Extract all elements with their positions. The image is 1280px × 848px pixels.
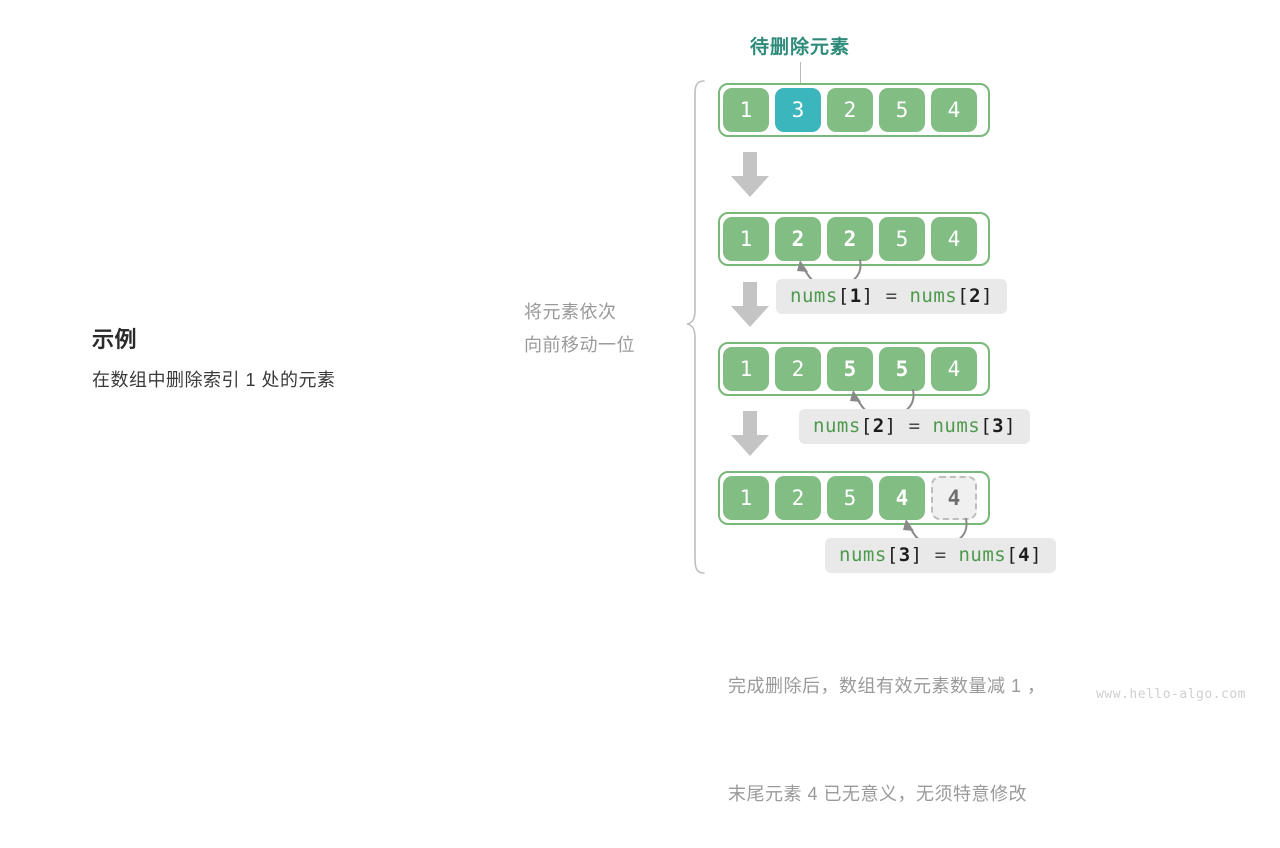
code-bracket-close: ] — [1030, 544, 1042, 566]
down-block-arrow-icon — [730, 282, 770, 328]
array-cell[interactable]: 1 — [723, 217, 769, 261]
array-cell[interactable]: 5 — [879, 347, 925, 391]
shift-note-line-2: 向前移动一位 — [524, 329, 704, 362]
code-bracket-open: [ — [887, 544, 899, 566]
code-bracket-open: [ — [1006, 544, 1018, 566]
code-lhs-name: nums — [839, 544, 887, 566]
code-lhs-index: 3 — [899, 544, 911, 566]
array-cell[interactable]: 2 — [775, 347, 821, 391]
curly-brace-icon — [684, 78, 710, 578]
code-rhs-index: 2 — [969, 285, 981, 307]
array-cell-highlighted[interactable]: 3 — [775, 88, 821, 132]
code-bracket-close: ] — [862, 285, 874, 307]
down-block-arrow-icon — [730, 152, 770, 198]
array-cell[interactable]: 4 — [931, 88, 977, 132]
code-lhs-name: nums — [790, 285, 838, 307]
code-label: nums[1] = nums[2] — [776, 279, 1007, 314]
array-cell[interactable]: 4 — [931, 347, 977, 391]
footer-note-line-2: 末尾元素 4 已无意义，无须特意修改 — [728, 776, 1208, 812]
array-cells: 1 2 2 5 4 — [723, 217, 977, 261]
example-title: 示例 — [92, 322, 492, 354]
array-cell[interactable]: 5 — [827, 476, 873, 520]
array-cell[interactable]: 1 — [723, 88, 769, 132]
delete-target-label: 待删除元素 — [700, 32, 900, 59]
down-block-arrow-icon — [730, 411, 770, 457]
code-rhs-index: 3 — [992, 415, 1004, 437]
code-operator: = — [923, 544, 959, 566]
code-lhs-index: 1 — [850, 285, 862, 307]
array-cell[interactable]: 4 — [931, 217, 977, 261]
array-cell[interactable]: 4 — [879, 476, 925, 520]
code-label: nums[2] = nums[3] — [799, 409, 1030, 444]
array-cell[interactable]: 5 — [879, 88, 925, 132]
code-lhs-index: 2 — [873, 415, 885, 437]
example-description: 在数组中删除索引 1 处的元素 — [92, 366, 492, 392]
shift-note: 将元素依次 向前移动一位 — [524, 296, 704, 362]
code-bracket-open: [ — [861, 415, 873, 437]
array-cell[interactable]: 1 — [723, 476, 769, 520]
array-cell[interactable]: 5 — [879, 217, 925, 261]
code-lhs-name: nums — [813, 415, 861, 437]
example-block: 示例 在数组中删除索引 1 处的元素 — [92, 322, 492, 392]
watermark: www.hello-algo.com — [1096, 687, 1246, 702]
shift-note-line-1: 将元素依次 — [524, 296, 704, 329]
array-cells: 1 2 5 4 4 — [723, 476, 977, 520]
array-cells: 1 3 2 5 4 — [723, 88, 977, 132]
code-operator: = — [874, 285, 910, 307]
code-rhs-name: nums — [909, 285, 957, 307]
array-cell[interactable]: 5 — [827, 347, 873, 391]
array-cell[interactable]: 2 — [827, 217, 873, 261]
code-bracket-open: [ — [980, 415, 992, 437]
code-operator: = — [897, 415, 933, 437]
code-bracket-close: ] — [911, 544, 923, 566]
array-cell[interactable]: 2 — [827, 88, 873, 132]
code-rhs-name: nums — [958, 544, 1006, 566]
code-bracket-close: ] — [981, 285, 993, 307]
footer-note: 完成删除后，数组有效元素数量减 1 ， 末尾元素 4 已无意义，无须特意修改 — [728, 596, 1208, 848]
array-cell-inactive[interactable]: 4 — [931, 476, 977, 520]
code-rhs-name: nums — [932, 415, 980, 437]
array-cells: 1 2 5 5 4 — [723, 347, 977, 391]
code-rhs-index: 4 — [1018, 544, 1030, 566]
code-bracket-open: [ — [957, 285, 969, 307]
array-cell[interactable]: 1 — [723, 347, 769, 391]
array-cell[interactable]: 2 — [775, 476, 821, 520]
code-label: nums[3] = nums[4] — [825, 538, 1056, 573]
code-bracket-close: ] — [885, 415, 897, 437]
array-cell[interactable]: 2 — [775, 217, 821, 261]
code-bracket-close: ] — [1004, 415, 1016, 437]
code-bracket-open: [ — [838, 285, 850, 307]
